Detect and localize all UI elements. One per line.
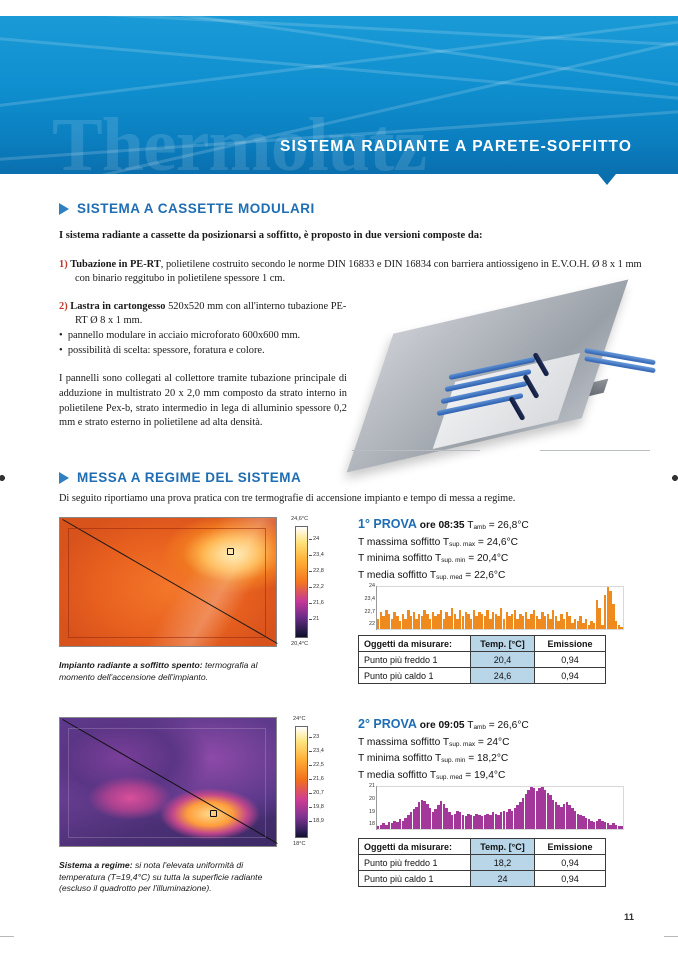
prova-2-line: T massima soffitto Tsup. max = 24°C <box>358 735 529 752</box>
table-header-row: Oggetti da misurare: Temp. [°C] Emission… <box>359 636 606 652</box>
section-heading-label: MESSA A REGIME DEL SISTEMA <box>77 470 301 485</box>
section-heading-cassette: SISTEMA A CASSETTE MODULARI <box>59 201 315 216</box>
cell-object: Punto più freddo 1 <box>359 855 471 871</box>
prova-1-title: 1° PROVA <box>358 517 417 531</box>
table-row: Punto più freddo 1 20,4 0,94 <box>359 652 606 668</box>
th-object: Oggetti da misurare: <box>359 839 471 855</box>
color-scale-2-max: 24°C <box>293 716 306 722</box>
color-scale-2 <box>295 726 308 838</box>
histogram-1-plot <box>377 586 624 630</box>
prova-1-title-line: 1° PROVA ore 08:35 Tamb = 26,8°C <box>358 514 529 535</box>
measurement-line <box>62 519 277 644</box>
prova-2-title: 2° PROVA <box>358 717 417 731</box>
photo-rule <box>540 450 650 451</box>
prova-2-info: 2° PROVA ore 09:05 Tamb = 26,6°C T massi… <box>358 714 529 784</box>
thermography-caption-2: Sistema a regime: si nota l'elevata unif… <box>59 860 291 895</box>
prova-2-ore: ore 09:05 <box>420 720 465 731</box>
thermography-caption-1: Impianto radiante a soffitto spento: ter… <box>59 660 291 683</box>
hot-spot-marker <box>210 810 217 817</box>
color-scale-1-max: 24,6°C <box>291 516 308 522</box>
histogram-bar <box>620 627 622 629</box>
table-row: Punto più caldo 1 24,6 0,94 <box>359 668 606 684</box>
prova-2-line: T media soffitto Tsup. med = 19,4°C <box>358 768 529 785</box>
prova-1-line: T media soffitto Tsup. med = 22,6°C <box>358 568 529 585</box>
header-banner: Thermolutz SISTEMA RADIANTE A PARETE-SOF… <box>0 16 678 174</box>
banner-title: SISTEMA RADIANTE A PARETE-SOFFITTO <box>280 138 632 156</box>
thermography-image-2 <box>59 717 277 847</box>
section-description: Di seguito riportiamo una prova pratica … <box>59 493 659 504</box>
section-heading-messa-regime: MESSA A REGIME DEL SISTEMA <box>59 470 301 485</box>
crop-mark-middle-right <box>666 474 678 483</box>
cell-temp: 18,2 <box>471 855 535 871</box>
table-row: Punto più caldo 1 24 0,94 <box>359 871 606 887</box>
prova-1-line: T massima soffitto Tsup. max = 24,6°C <box>358 535 529 552</box>
cell-emission: 0,94 <box>535 871 606 887</box>
section-heading-label: SISTEMA A CASSETTE MODULARI <box>77 201 315 216</box>
cell-emission: 0,94 <box>535 668 606 684</box>
cell-temp: 20,4 <box>471 652 535 668</box>
section-intro-text: I sistema radiante a cassette da posizio… <box>59 229 659 243</box>
th-temp: Temp. [°C] <box>471 839 535 855</box>
list-item-1-bold: Tubazione in PE-RT <box>70 259 160 270</box>
measure-table-2: Oggetti da misurare: Temp. [°C] Emission… <box>358 838 606 887</box>
histogram-2-plot <box>377 786 624 830</box>
histogram-1: 24 23,4 22,7 22 <box>376 586 624 630</box>
color-scale-1-min: 20,4°C <box>291 641 308 647</box>
table-header-row: Oggetti da misurare: Temp. [°C] Emission… <box>359 839 606 855</box>
cell-object: Punto più freddo 1 <box>359 652 471 668</box>
photo-rule <box>352 450 480 451</box>
th-object: Oggetti da misurare: <box>359 636 471 652</box>
prova-2-title-line: 2° PROVA ore 09:05 Tamb = 26,6°C <box>358 714 529 735</box>
bullet-list: • pannello modulare in acciaio microfora… <box>59 328 359 358</box>
prova-1-info: 1° PROVA ore 08:35 Tamb = 26,8°C T massi… <box>358 514 529 584</box>
prova-1-tamb: Tamb = 26,8°C <box>467 520 529 531</box>
list-item-2: 2) Lastra in cartongesso 520x520 mm con … <box>59 300 349 329</box>
cell-emission: 0,94 <box>535 652 606 668</box>
prova-1-line: T minima soffitto Tsup. min = 20,4°C <box>358 551 529 568</box>
histogram-bar <box>620 826 622 829</box>
color-scale-1 <box>295 526 308 638</box>
prova-1-ore: ore 08:35 <box>420 520 465 531</box>
prova-2-tamb: Tamb = 26,6°C <box>467 720 529 731</box>
measurement-line <box>62 719 277 844</box>
caption-bold: Impianto radiante a soffitto spento: <box>59 660 203 670</box>
color-scale-2-min: 18°C <box>293 841 306 847</box>
cell-temp: 24,6 <box>471 668 535 684</box>
prova-2-line: T minima soffitto Tsup. min = 18,2°C <box>358 751 529 768</box>
table-row: Punto più freddo 1 18,2 0,94 <box>359 855 606 871</box>
section-paragraph: I pannelli sono collegati al collettore … <box>59 372 347 431</box>
list-item-1-text: , polietilene costruito secondo le norme… <box>75 259 642 284</box>
triangle-bullet-icon <box>59 472 69 484</box>
th-emission: Emissione <box>535 636 606 652</box>
crop-mark-bottom-right <box>664 936 678 938</box>
caption-bold: Sistema a regime: <box>59 860 133 870</box>
list-item-2-bold: Lastra in cartongesso <box>70 301 165 312</box>
page-number: 11 <box>624 912 634 923</box>
histogram-2-axis: 21 20 19 18 <box>359 783 376 827</box>
cell-emission: 0,94 <box>535 855 606 871</box>
histogram-1-axis: 24 23,4 22,7 22 <box>359 583 376 627</box>
radiant-panel-photo <box>352 302 652 462</box>
bullet-label: possibilità di scelta: spessore, foratur… <box>68 345 265 356</box>
measure-table-1: Oggetti da misurare: Temp. [°C] Emission… <box>358 635 606 684</box>
histogram-2: 21 20 19 18 <box>376 786 624 830</box>
hot-spot-marker <box>227 548 234 555</box>
list-item-1-number: 1) <box>59 259 68 270</box>
bullet-label: pannello modulare in acciaio microforato… <box>68 330 300 341</box>
list-item-1: 1) Tubazione in PE-RT, polietilene costr… <box>59 258 655 287</box>
banner-notch <box>598 174 616 185</box>
th-temp: Temp. [°C] <box>471 636 535 652</box>
bullet-list-item: • pannello modulare in acciaio microfora… <box>59 328 359 343</box>
list-item-2-number: 2) <box>59 301 68 312</box>
thermography-image-1 <box>59 517 277 647</box>
crop-mark-bottom-left <box>0 936 14 938</box>
crop-mark-middle-left <box>0 474 12 483</box>
cell-object: Punto più caldo 1 <box>359 668 471 684</box>
document-page: Thermolutz SISTEMA RADIANTE A PARETE-SOF… <box>0 0 678 959</box>
bullet-list-item: • possibilità di scelta: spessore, forat… <box>59 343 359 358</box>
cell-temp: 24 <box>471 871 535 887</box>
th-emission: Emissione <box>535 839 606 855</box>
cell-object: Punto più caldo 1 <box>359 871 471 887</box>
triangle-bullet-icon <box>59 203 69 215</box>
